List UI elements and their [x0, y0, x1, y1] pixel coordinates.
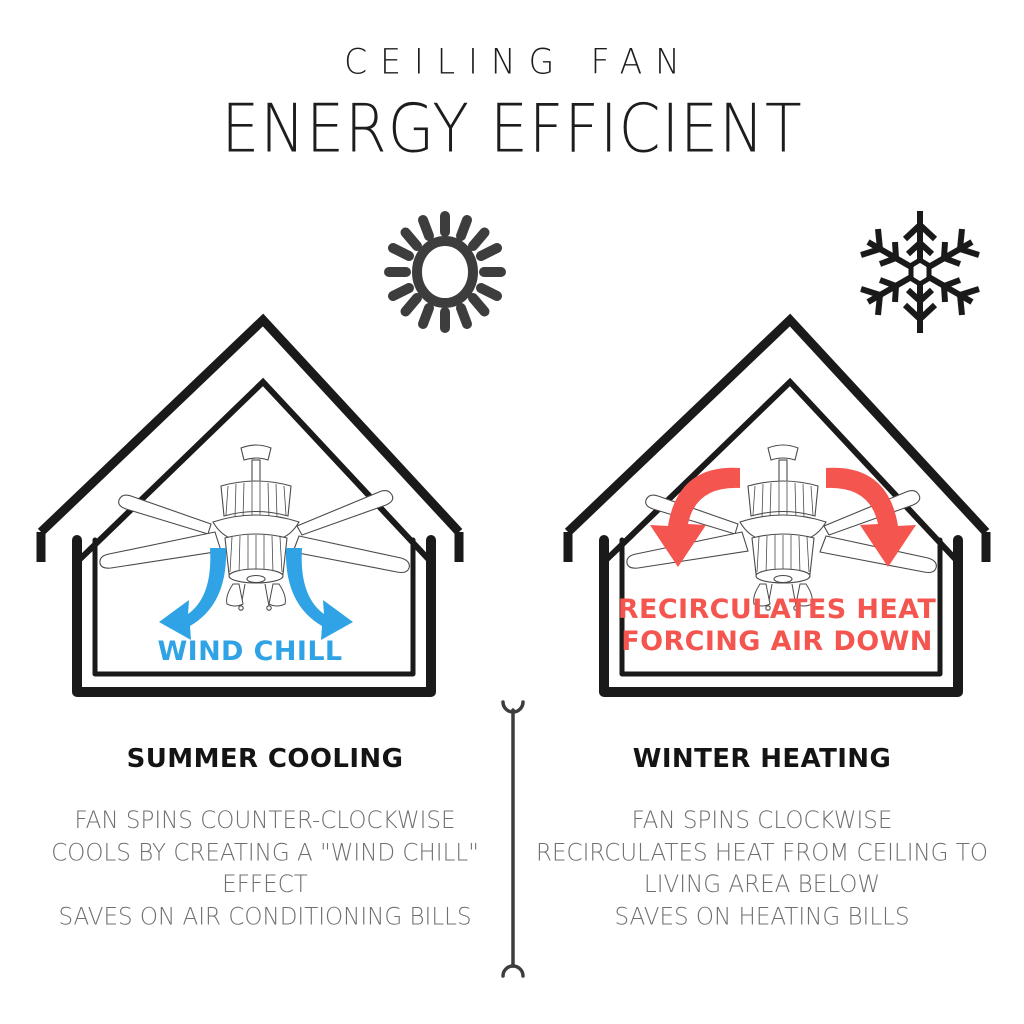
recirculates-heat-label: RECIRCULATES HEATFORCING AIR DOWN — [562, 594, 992, 658]
airflow-arrow-left — [159, 548, 226, 640]
fan-blade — [297, 491, 393, 535]
fan-blade — [100, 532, 221, 568]
infographic-canvas: CEILING FAN ENERGY EFFICIENT — [0, 0, 1024, 1024]
summer-heading: SUMMER COOLING — [25, 744, 505, 774]
page-title: ENERGY EFFICIENT — [0, 90, 1024, 168]
page-kicker: CEILING FAN — [0, 41, 1024, 82]
summer-cooling-column: SUMMER COOLING FAN SPINS COUNTER-CLOCKWI… — [25, 744, 505, 930]
winter-heating-column: WINTER HEATING FAN SPINS CLOCKWISERECIRC… — [522, 744, 1002, 930]
ceiling-fan-icon — [100, 445, 409, 610]
summer-body: FAN SPINS COUNTER-CLOCKWISECOOLS BY CREA… — [25, 805, 505, 933]
wind-chill-label: WIND CHILL — [35, 636, 465, 668]
winter-heading: WINTER HEATING — [522, 744, 1002, 774]
fan-blade — [119, 495, 211, 534]
winter-body: FAN SPINS CLOCKWISERECIRCULATES HEAT FRO… — [522, 805, 1002, 933]
fan-blade — [293, 536, 409, 573]
